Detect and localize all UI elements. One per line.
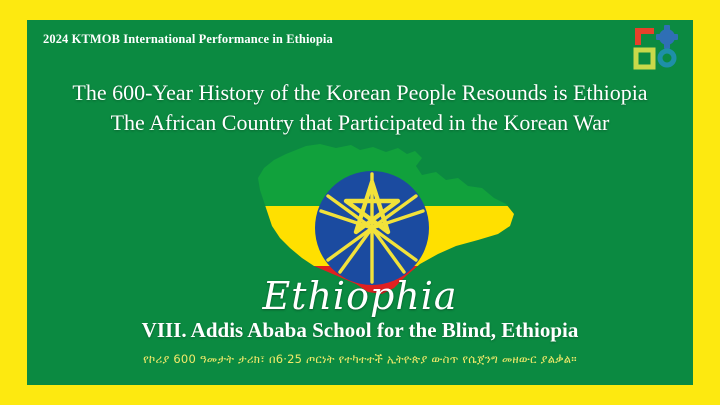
ethiopian-national-emblem [315, 171, 429, 285]
blue-flower-icon [656, 25, 678, 49]
venue-caption: VIII. Addis Ababa School for the Blind, … [27, 318, 693, 343]
headline-line-1: The 600-Year History of the Korean Peopl… [27, 78, 693, 108]
amharic-subcaption: የኮሪያ 600 ዓመታት ታሪክ፣ በ6·25 ጦርነት የተካተተች ኢትዮ… [27, 352, 693, 367]
ktmob-logo-icon [633, 25, 679, 71]
poster-panel: 2024 KTMOB International Performance in … [27, 20, 693, 385]
teal-ring-icon [660, 51, 674, 65]
event-eyebrow-text: 2024 KTMOB International Performance in … [43, 32, 333, 47]
ethiopia-map-graphic [210, 142, 520, 332]
yellowgreen-square-icon [636, 50, 653, 67]
ktmob-logo [633, 25, 679, 71]
headline: The 600-Year History of the Korean Peopl… [27, 78, 693, 138]
red-bracket-icon [635, 28, 654, 45]
headline-line-2: The African Country that Participated in… [27, 108, 693, 138]
poster-root: 2024 KTMOB International Performance in … [0, 0, 720, 405]
ethiopia-map-icon [210, 142, 520, 332]
